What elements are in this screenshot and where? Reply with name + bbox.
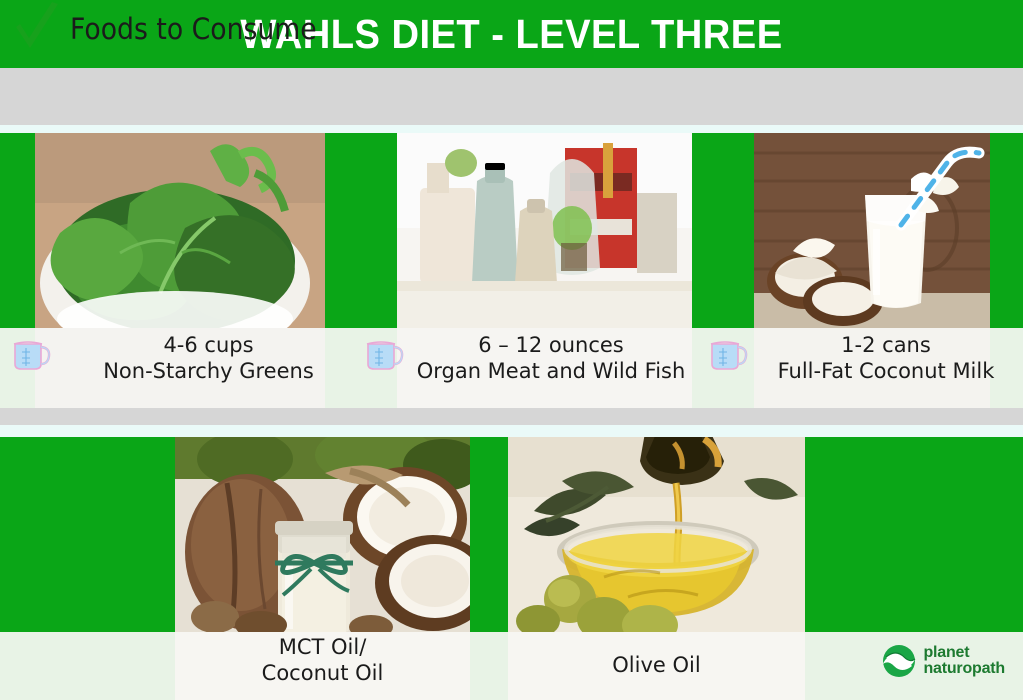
olive-oil-photo bbox=[508, 437, 805, 632]
caption-mct-coconut-oil: MCT Oil/ Coconut Oil bbox=[175, 632, 470, 700]
check-icon bbox=[14, 1, 60, 53]
leaf-swirl-icon bbox=[882, 644, 916, 678]
row-two-images bbox=[0, 437, 1023, 632]
amount-line: 4-6 cups bbox=[163, 333, 253, 357]
image-panel-mct-coconut-oil bbox=[175, 437, 470, 632]
label-line: Full-Fat Coconut Milk bbox=[778, 359, 995, 383]
divider-band-top bbox=[0, 125, 1023, 133]
subheader-content: Foods to Consume bbox=[14, 0, 338, 57]
row-one-captions: 4-6 cupsNon-Starchy Greens 6 – 12 ounces… bbox=[0, 328, 1023, 410]
amount-line: 1-2 cans bbox=[841, 333, 931, 357]
amount-line: 6 – 12 ounces bbox=[478, 333, 623, 357]
caption-text-full-fat-coconut-milk: 1-2 cansFull-Fat Coconut Milk bbox=[749, 328, 1023, 384]
label-line: Organ Meat and Wild Fish bbox=[417, 359, 686, 383]
coconut-oil-photo bbox=[175, 437, 470, 632]
infographic-poster: WAHLS DIET - LEVEL THREE Foods to Consum… bbox=[0, 0, 1023, 700]
logo-wordmark: planet naturopath bbox=[923, 645, 1005, 677]
caption-spacer-middle bbox=[470, 632, 508, 700]
subheader-label: Foods to Consume bbox=[70, 12, 317, 46]
caption-text-mct-coconut-oil: MCT Oil/ Coconut Oil bbox=[175, 632, 470, 686]
spinach-photo bbox=[0, 133, 365, 328]
planet-naturopath-logo[interactable]: planet naturopath bbox=[882, 644, 1005, 678]
image-panel-organ-meat-wild-fish bbox=[365, 133, 697, 328]
caption-full-fat-coconut-milk: 1-2 cansFull-Fat Coconut Milk bbox=[697, 328, 1023, 410]
caption-text-olive-oil: Olive Oil bbox=[508, 632, 805, 678]
row-two-captions: MCT Oil/ Coconut Oil Olive Oil bbox=[0, 632, 1023, 700]
milk-bottles-photo bbox=[365, 133, 697, 328]
caption-text-non-starchy-greens: 4-6 cupsNon-Starchy Greens bbox=[52, 328, 365, 384]
divider-band-middle bbox=[0, 408, 1023, 425]
coconut-milk-photo bbox=[697, 133, 1023, 328]
caption-spacer-left bbox=[0, 632, 175, 700]
logo-line-1: planet bbox=[923, 645, 1005, 661]
caption-text-organ-meat-wild-fish: 6 – 12 ouncesOrgan Meat and Wild Fish bbox=[405, 328, 697, 384]
image-panel-full-fat-coconut-milk bbox=[697, 133, 1023, 328]
measuring-cup-icon bbox=[363, 334, 405, 374]
green-spacer-right bbox=[805, 437, 1023, 632]
caption-non-starchy-greens: 4-6 cupsNon-Starchy Greens bbox=[0, 328, 365, 410]
green-spacer-left bbox=[0, 437, 175, 632]
row-one-images bbox=[0, 133, 1023, 328]
image-panel-olive-oil bbox=[508, 437, 805, 632]
measuring-cup-icon bbox=[707, 334, 749, 374]
subheader-band bbox=[0, 68, 1023, 125]
logo-line-2: naturopath bbox=[923, 661, 1005, 677]
divider-band-light bbox=[0, 425, 1023, 437]
image-panel-non-starchy-greens bbox=[0, 133, 365, 328]
measuring-cup-icon bbox=[10, 334, 52, 374]
caption-olive-oil: Olive Oil bbox=[508, 632, 805, 700]
green-spacer-middle bbox=[470, 437, 508, 632]
label-line: Non-Starchy Greens bbox=[103, 359, 314, 383]
caption-organ-meat-wild-fish: 6 – 12 ouncesOrgan Meat and Wild Fish bbox=[365, 328, 697, 410]
